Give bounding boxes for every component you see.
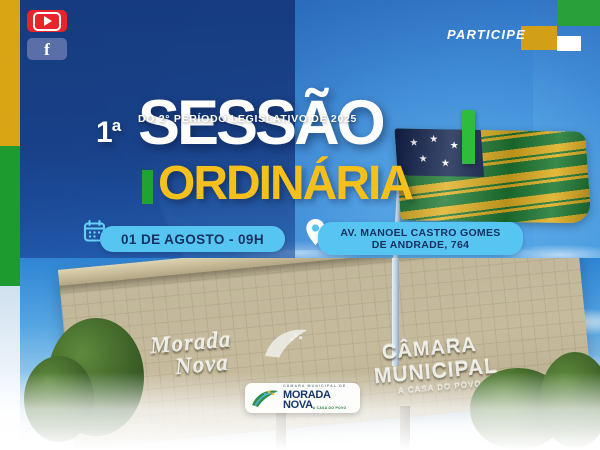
poster-canvas: f PARTICIPE ★ ★ ★ ★ ★ 1a SESSÃO ORDINÁRI… [0, 0, 600, 450]
address-line-2: DE ANDRADE, 764 [372, 239, 469, 251]
left-stripe-green [0, 146, 20, 286]
headline-ordinaria: ORDINÁRIA [158, 160, 412, 208]
facebook-glyph: f [44, 41, 50, 58]
headline-subtitle: DO 2° PERÍODO LEGISLATIVO DE 2025 [138, 113, 357, 125]
facebook-icon[interactable]: f [27, 38, 67, 60]
logo-text: CÂMARA MUNICIPAL DE MORADA NOVA A CASA D… [283, 385, 346, 411]
accent-bar-green-left [142, 170, 153, 204]
ordinal-number: 1a [96, 116, 120, 150]
accent-bar-green-right [462, 110, 475, 164]
state-flag: ★ ★ ★ ★ ★ [394, 128, 591, 223]
decor-block-gold [521, 26, 557, 50]
logo-name-line2: NOVA [283, 400, 313, 411]
decor-block-green [557, 0, 600, 26]
logo-mark-icon [250, 387, 280, 409]
youtube-icon[interactable] [27, 10, 67, 32]
address-line-1: AV. MANOEL CASTRO GOMES [340, 227, 500, 239]
council-logo: CÂMARA MUNICIPAL DE MORADA NOVA A CASA D… [245, 383, 360, 413]
social-links: f [27, 10, 67, 66]
youtube-glyph [33, 12, 61, 31]
logo-name-row: NOVA A CASA DO POVO [283, 401, 346, 411]
decor-block-white [557, 36, 581, 51]
flag-shading [394, 128, 591, 223]
logo-tagline: A CASA DO POVO [313, 407, 347, 410]
address-pill: AV. MANOEL CASTRO GOMES DE ANDRADE, 764 [318, 222, 523, 255]
date-pill: 01 DE AGOSTO - 09H [100, 226, 285, 252]
play-triangle-icon [44, 16, 52, 26]
participe-label: PARTICIPE [447, 27, 526, 42]
city-emblem-icon [261, 324, 312, 362]
left-stripe-gold [0, 0, 20, 146]
